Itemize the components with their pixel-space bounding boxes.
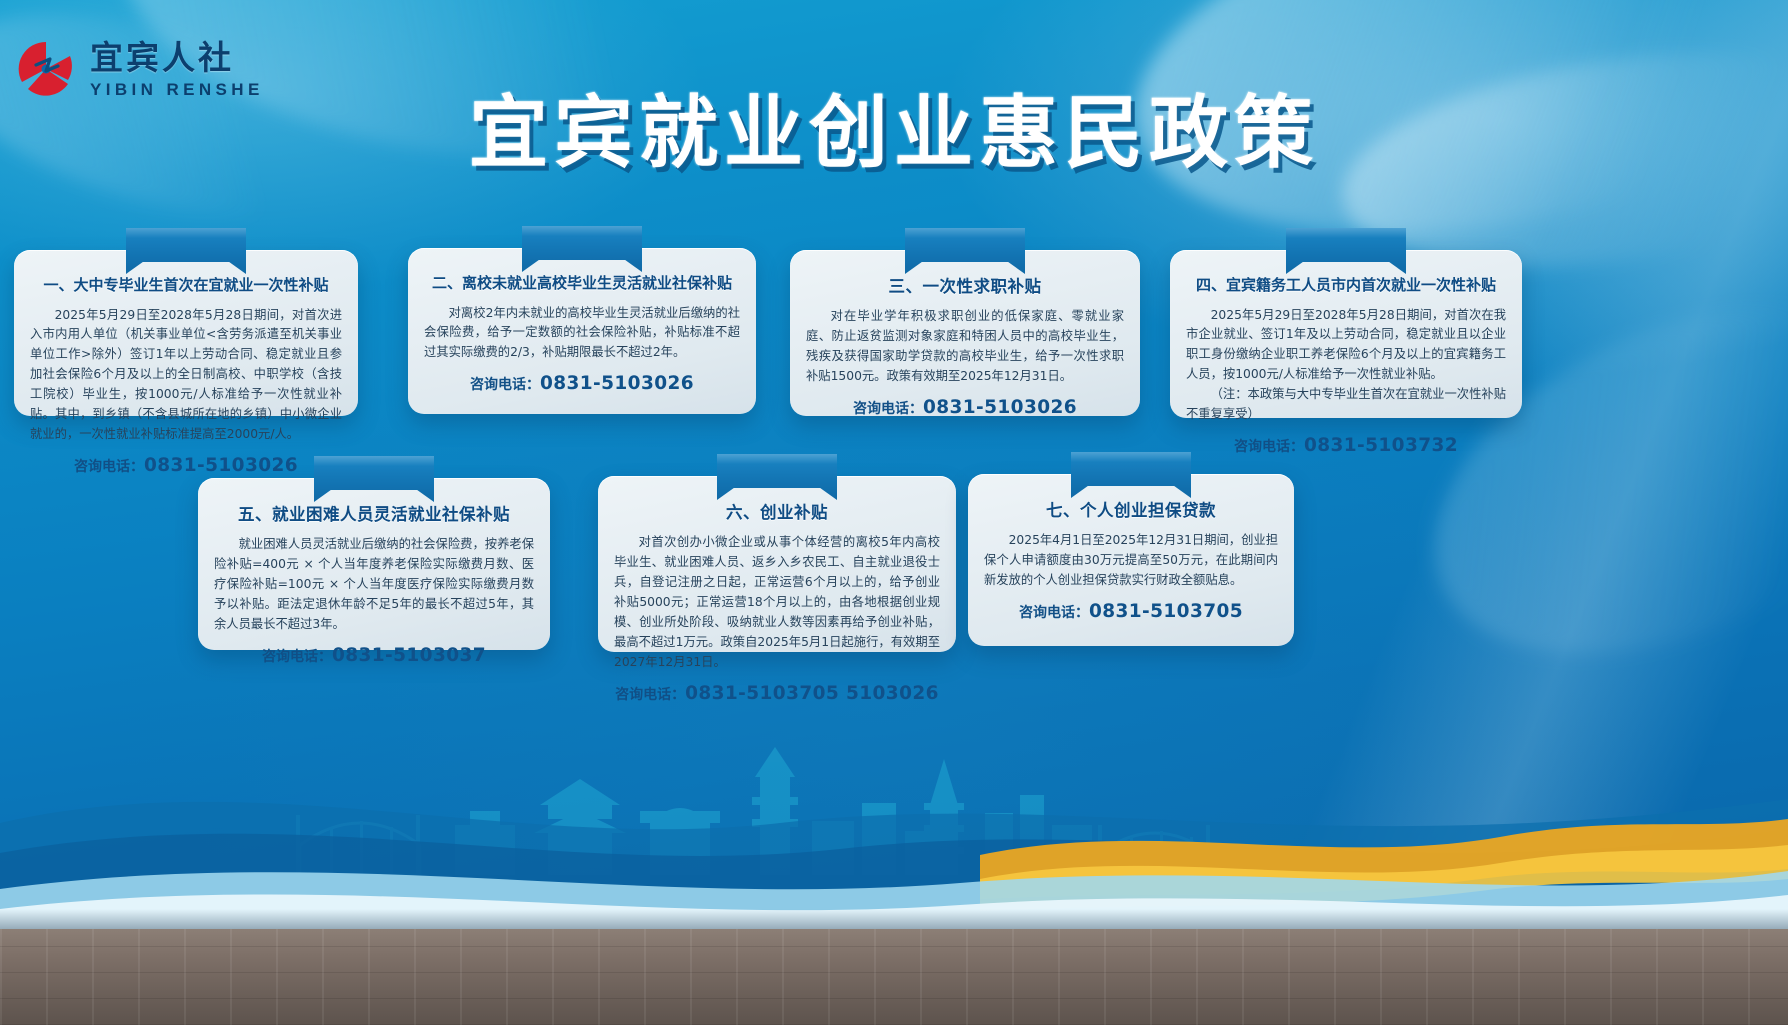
card-ribbon-icon (126, 228, 246, 274)
card-phone: 咨询电话：0831-5103705 5103026 (614, 683, 940, 704)
phone-label: 咨询电话： (853, 401, 923, 417)
policy-card-7: 七、个人创业担保贷款 2025年4月1日至2025年12月31日期间，创业担保个… (968, 474, 1294, 646)
phone-label: 咨询电话： (615, 687, 685, 703)
policy-card-4: 四、宜宾籍务工人员市内首次就业一次性补贴 2025年5月29日至2028年5月2… (1170, 250, 1522, 418)
ground-pavement (0, 929, 1788, 1025)
card-ribbon-icon (905, 228, 1025, 274)
phone-label: 咨询电话： (470, 377, 540, 393)
card-ribbon-icon (717, 454, 837, 500)
card-body: 就业困难人员灵活就业后缴纳的社会保险费，按养老保险补贴=400元 × 个人当年度… (214, 535, 534, 635)
phone-number: 0831-5103037 (332, 645, 486, 666)
card-title: 二、离校未就业高校毕业生灵活就业社保补贴 (424, 274, 740, 294)
card-phone: 咨询电话：0831-5103732 (1186, 435, 1506, 456)
card-body: 2025年5月29日至2028年5月28日期间，对首次在我市企业就业、签订1年及… (1186, 306, 1506, 386)
card-title: 四、宜宾籍务工人员市内首次就业一次性补贴 (1186, 276, 1506, 296)
card-note: （注：本政策与大中专毕业生首次在宜就业一次性补贴不重复享受） (1186, 385, 1506, 425)
card-title: 六、创业补贴 (614, 502, 940, 523)
card-ribbon-icon (1286, 228, 1406, 274)
policy-card-6: 六、创业补贴 对首次创办小微企业或从事个体经营的离校5年内高校毕业生、就业困难人… (598, 476, 956, 652)
card-phone: 咨询电话：0831-5103026 (424, 373, 740, 394)
card-ribbon-icon (314, 456, 434, 502)
phone-label: 咨询电话： (262, 649, 332, 665)
card-title: 一、大中专毕业生首次在宜就业一次性补贴 (30, 276, 342, 296)
card-phone: 咨询电话：0831-5103705 (984, 601, 1278, 622)
card-title: 五、就业困难人员灵活就业社保补贴 (214, 504, 534, 525)
card-phone: 咨询电话：0831-5103037 (214, 645, 534, 666)
phone-number: 0831-5103026 (923, 397, 1077, 418)
card-body: 对首次创办小微企业或从事个体经营的离校5年内高校毕业生、就业困难人员、返乡入乡农… (614, 533, 940, 672)
card-body: 对在毕业学年积极求职创业的低保家庭、零就业家庭、防止返贫监测对象家庭和特困人员中… (806, 307, 1124, 387)
phone-number: 0831-5103026 (144, 455, 298, 476)
phone-number: 0831-5103705 (1089, 601, 1243, 622)
phone-number: 0831-5103705 5103026 (685, 683, 939, 704)
card-title: 七、个人创业担保贷款 (984, 500, 1278, 521)
phone-number: 0831-5103026 (540, 373, 694, 394)
card-ribbon-icon (522, 226, 642, 272)
card-body: 2025年5月29日至2028年5月28日期间，对首次进入市内用人单位（机关事业… (30, 306, 342, 445)
policy-card-3: 三、一次性求职补贴 对在毕业学年积极求职创业的低保家庭、零就业家庭、防止返贫监测… (790, 250, 1140, 416)
card-phone: 咨询电话：0831-5103026 (806, 397, 1124, 418)
policy-card-5: 五、就业困难人员灵活就业社保补贴 就业困难人员灵活就业后缴纳的社会保险费，按养老… (198, 478, 550, 650)
page-title: 宜宾就业创业惠民政策 (0, 68, 1788, 183)
card-title: 三、一次性求职补贴 (806, 276, 1124, 297)
card-ribbon-icon (1071, 452, 1191, 498)
policy-card-2: 二、离校未就业高校毕业生灵活就业社保补贴 对离校2年内未就业的高校毕业生灵活就业… (408, 248, 756, 414)
card-body: 2025年4月1日至2025年12月31日期间，创业担保个人申请额度由30万元提… (984, 531, 1278, 591)
phone-number: 0831-5103732 (1304, 435, 1458, 456)
phone-label: 咨询电话： (1019, 605, 1089, 621)
policy-card-1: 一、大中专毕业生首次在宜就业一次性补贴 2025年5月29日至2028年5月28… (14, 250, 358, 416)
card-phone: 咨询电话：0831-5103026 (30, 455, 342, 476)
phone-label: 咨询电话： (74, 459, 144, 475)
card-body: 对离校2年内未就业的高校毕业生灵活就业后缴纳的社会保险费，给予一定数额的社会保险… (424, 304, 740, 364)
phone-label: 咨询电话： (1234, 439, 1304, 455)
